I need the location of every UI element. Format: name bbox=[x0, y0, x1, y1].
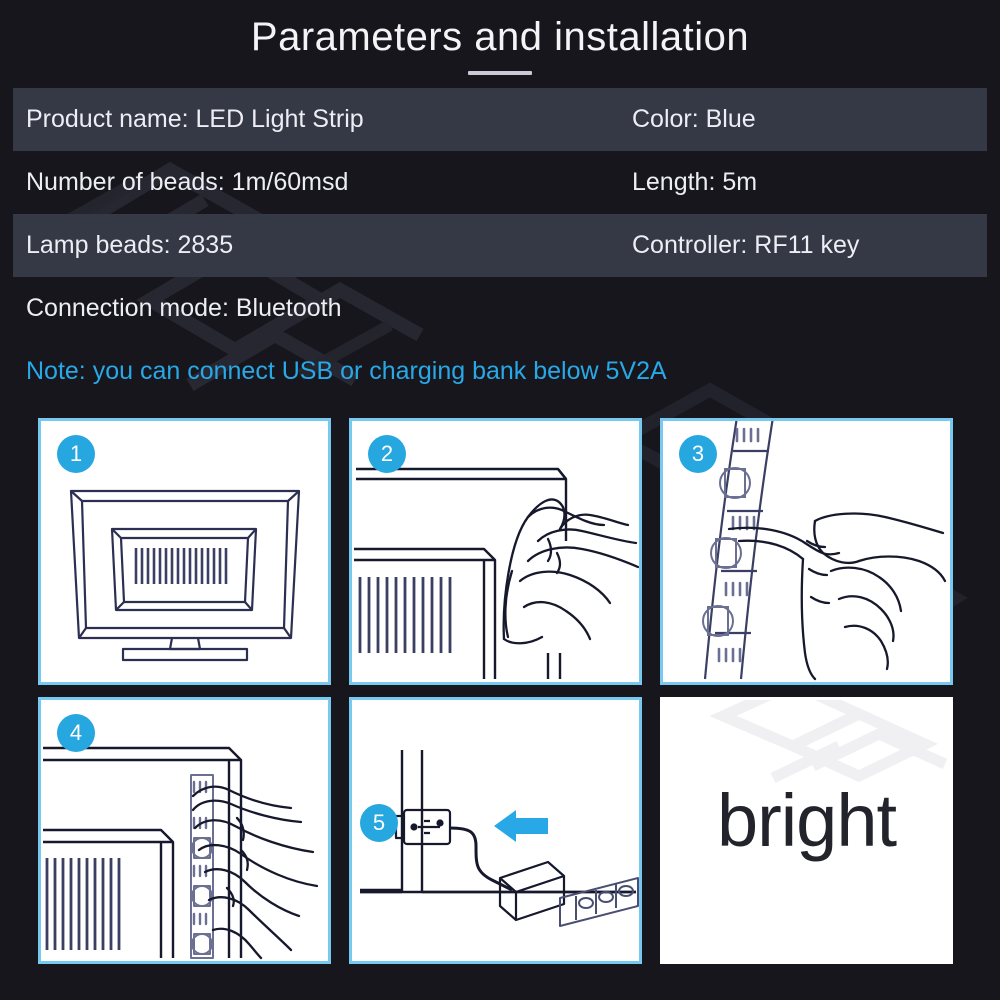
page-title-block: Parameters and installation bbox=[0, 10, 1000, 75]
spec-row: Product name: LED Light Strip Color: Blu… bbox=[0, 88, 1000, 151]
page-title: Parameters and installation bbox=[0, 10, 1000, 64]
spec-left-lamp-beads: Lamp beads: 2835 bbox=[26, 231, 233, 260]
step-panel-4: 4 bbox=[38, 697, 331, 964]
result-label: bright bbox=[663, 778, 950, 863]
step-badge-5: 5 bbox=[360, 804, 398, 842]
steps-row-bottom: 4 bbox=[38, 697, 963, 964]
step-badge-4: 4 bbox=[57, 714, 95, 752]
spec-row: Lamp beads: 2835 Controller: RF11 key bbox=[0, 214, 1000, 277]
step-badge-2: 2 bbox=[368, 435, 406, 473]
spec-right-controller: Controller: RF11 key bbox=[632, 231, 859, 260]
spec-right-length: Length: 5m bbox=[632, 168, 757, 197]
step-panel-1: 1 bbox=[38, 418, 331, 685]
note-row: Note: you can connect USB or charging ba… bbox=[0, 340, 1000, 402]
step-panel-5: 5 bbox=[349, 697, 642, 964]
spec-row: Connection mode: Bluetooth bbox=[0, 277, 1000, 340]
spec-row: Number of beads: 1m/60msd Length: 5m bbox=[0, 151, 1000, 214]
steps-row-top: 1 bbox=[38, 418, 963, 685]
spec-left-number-of-beads: Number of beads: 1m/60msd bbox=[26, 168, 348, 197]
spec-right-color: Color: Blue bbox=[632, 105, 756, 134]
note-text: Note: you can connect USB or charging ba… bbox=[26, 357, 667, 386]
spec-table: Product name: LED Light Strip Color: Blu… bbox=[0, 88, 1000, 402]
installation-steps-grid: 1 bbox=[38, 418, 963, 976]
step-panel-3: 3 bbox=[660, 418, 953, 685]
spec-left-connection-mode: Connection mode: Bluetooth bbox=[26, 294, 342, 323]
step-panel-2: 2 bbox=[349, 418, 642, 685]
result-panel: bright bbox=[660, 697, 953, 964]
title-underline bbox=[468, 71, 532, 75]
step-badge-3: 3 bbox=[679, 435, 717, 473]
step-badge-1: 1 bbox=[57, 435, 95, 473]
spec-left-product-name: Product name: LED Light Strip bbox=[26, 105, 364, 134]
product-info-page: Parameters and installation Product name… bbox=[0, 0, 1000, 1000]
